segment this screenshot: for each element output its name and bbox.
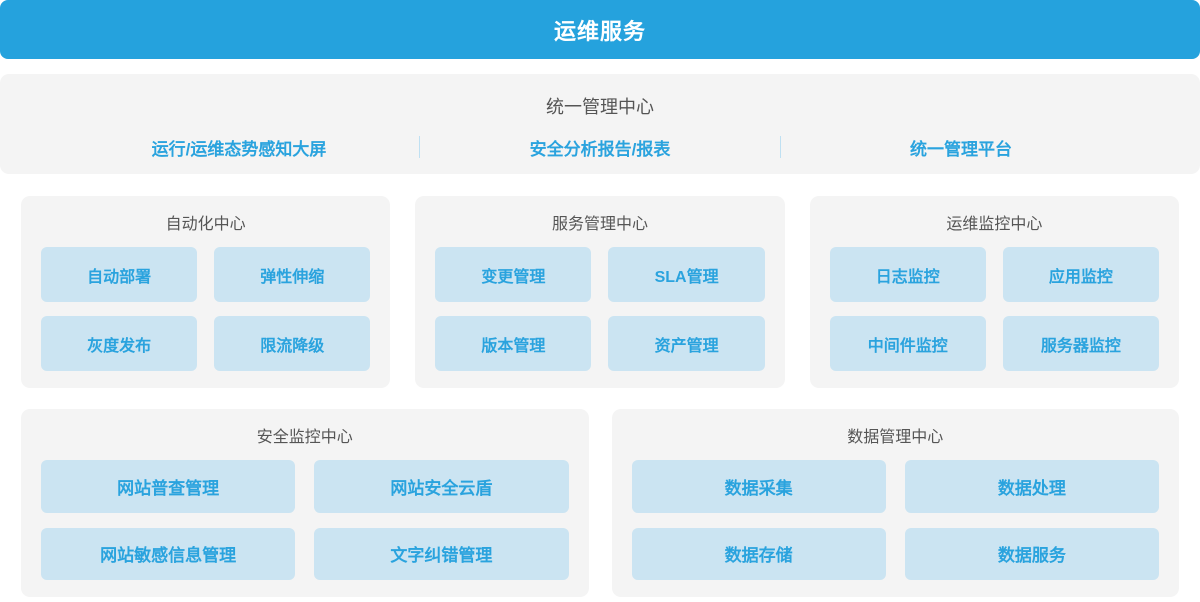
- chip-website-security-cloud-shield[interactable]: 网站安全云盾: [314, 460, 568, 513]
- unified-link-management-platform[interactable]: 统一管理平台: [781, 135, 1141, 160]
- chip-middleware-monitoring[interactable]: 中间件监控: [830, 316, 986, 371]
- card-title-ops-monitoring-center: 运维监控中心: [946, 210, 1042, 234]
- chip-version-management[interactable]: 版本管理: [435, 316, 591, 371]
- card-service-management-center: 服务管理中心 变更管理 SLA管理 版本管理 资产管理: [415, 196, 784, 388]
- chip-data-collection[interactable]: 数据采集: [632, 460, 886, 513]
- unified-management-center-title: 统一管理中心: [546, 93, 654, 119]
- middle-center-row: 自动化中心 自动部署 弹性伸缩 灰度发布 限流降级 服务管理中心 变更管理 SL…: [21, 196, 1179, 388]
- chip-grid-security-monitoring-center: 网站普查管理 网站安全云盾 网站敏感信息管理 文字纠错管理: [41, 460, 569, 580]
- chip-grid-ops-monitoring-center: 日志监控 应用监控 中间件监控 服务器监控: [830, 247, 1159, 371]
- unified-management-links: 运行/运维态势感知大屏 安全分析报告/报表 统一管理平台: [0, 135, 1200, 160]
- chip-grid-automation-center: 自动部署 弹性伸缩 灰度发布 限流降级: [41, 247, 370, 371]
- unified-link-security-report[interactable]: 安全分析报告/报表: [420, 135, 780, 160]
- chip-asset-management[interactable]: 资产管理: [608, 316, 764, 371]
- page-title: 运维服务: [554, 14, 646, 46]
- unified-management-center-panel: 统一管理中心 运行/运维态势感知大屏 安全分析报告/报表 统一管理平台: [0, 74, 1200, 174]
- chip-data-storage[interactable]: 数据存储: [632, 528, 886, 581]
- chip-website-census-management[interactable]: 网站普查管理: [41, 460, 295, 513]
- chip-data-processing[interactable]: 数据处理: [905, 460, 1159, 513]
- chip-sla-management[interactable]: SLA管理: [608, 247, 764, 302]
- card-automation-center: 自动化中心 自动部署 弹性伸缩 灰度发布 限流降级: [21, 196, 390, 388]
- chip-gray-release[interactable]: 灰度发布: [41, 316, 197, 371]
- card-data-management-center: 数据管理中心 数据采集 数据处理 数据存储 数据服务: [612, 409, 1180, 597]
- unified-link-situation-dashboard[interactable]: 运行/运维态势感知大屏: [59, 135, 419, 160]
- card-security-monitoring-center: 安全监控中心 网站普查管理 网站安全云盾 网站敏感信息管理 文字纠错管理: [21, 409, 589, 597]
- card-title-automation-center: 自动化中心: [166, 210, 246, 234]
- header-title-bar: 运维服务: [0, 0, 1200, 59]
- chip-auto-deploy[interactable]: 自动部署: [41, 247, 197, 302]
- chip-data-service[interactable]: 数据服务: [905, 528, 1159, 581]
- card-title-security-monitoring-center: 安全监控中心: [257, 423, 353, 447]
- chip-elastic-scaling[interactable]: 弹性伸缩: [214, 247, 370, 302]
- chip-server-monitoring[interactable]: 服务器监控: [1003, 316, 1159, 371]
- chip-text-proofreading-management[interactable]: 文字纠错管理: [314, 528, 568, 581]
- card-title-data-management-center: 数据管理中心: [847, 423, 943, 447]
- chip-grid-data-management-center: 数据采集 数据处理 数据存储 数据服务: [632, 460, 1160, 580]
- card-title-service-management-center: 服务管理中心: [552, 210, 648, 234]
- chip-change-management[interactable]: 变更管理: [435, 247, 591, 302]
- chip-application-monitoring[interactable]: 应用监控: [1003, 247, 1159, 302]
- chip-log-monitoring[interactable]: 日志监控: [830, 247, 986, 302]
- chip-website-sensitive-info-management[interactable]: 网站敏感信息管理: [41, 528, 295, 581]
- chip-grid-service-management-center: 变更管理 SLA管理 版本管理 资产管理: [435, 247, 764, 371]
- ops-service-architecture-diagram: 运维服务 统一管理中心 运行/运维态势感知大屏 安全分析报告/报表 统一管理平台…: [0, 0, 1200, 602]
- bottom-center-row: 安全监控中心 网站普查管理 网站安全云盾 网站敏感信息管理 文字纠错管理 数据管…: [21, 409, 1179, 597]
- card-ops-monitoring-center: 运维监控中心 日志监控 应用监控 中间件监控 服务器监控: [810, 196, 1179, 388]
- chip-rate-limit-degrade[interactable]: 限流降级: [214, 316, 370, 371]
